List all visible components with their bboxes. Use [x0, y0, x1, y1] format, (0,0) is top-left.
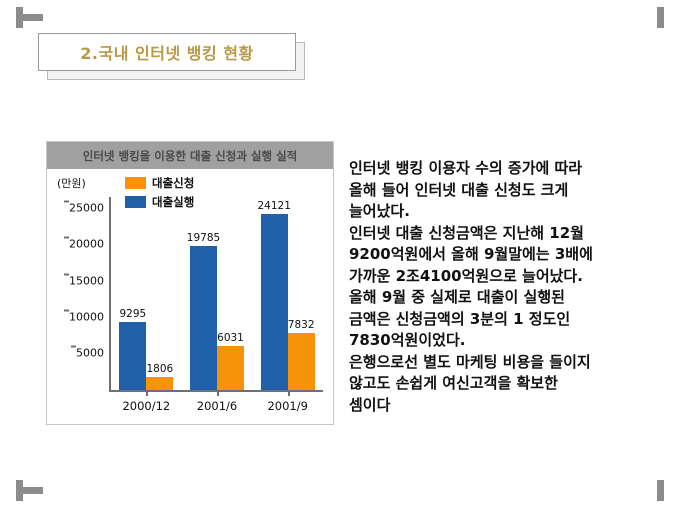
x-axis-label-2001-9: 2001/9	[267, 399, 307, 413]
bar-group-2001-6: 19785 6031 2001/6	[182, 197, 253, 390]
rule-bar	[16, 487, 43, 494]
body-line: 올해 9월 중 실제로 대출이 실행된	[349, 287, 659, 309]
bar-value-label: 7832	[288, 319, 315, 331]
plot-area: 5000 10000 15000 20000 25000 9295 1806 2…	[109, 197, 323, 392]
bar-group-2000-12: 9295 1806 2000/12	[111, 197, 182, 390]
body-line: 금액은 신청금액의 3분의 1 정도인	[349, 309, 659, 331]
chart-panel: 인터넷 뱅킹을 이용한 대출 신청과 실행 실적 (만원) 대출신청 대출실행 …	[46, 141, 334, 425]
bar-silhaeng-2001-6[interactable]: 19785	[190, 246, 217, 390]
legend-item-daechul-sincheong: 대출신청	[125, 174, 194, 191]
bar-value-label: 19785	[187, 232, 220, 244]
legend-swatch-orange	[125, 177, 146, 189]
rule-bar	[16, 14, 43, 21]
x-tick-mark	[146, 390, 148, 396]
y-tick-10000: 10000	[69, 311, 111, 324]
x-tick-mark	[217, 390, 219, 396]
bar-group-2001-9: 24121 7832 2001/9	[252, 197, 323, 390]
x-axis-label-2000-12: 2000/12	[122, 399, 170, 413]
bar-sincheong-2001-9[interactable]: 7832	[288, 333, 315, 390]
body-line: 늘어났다.	[349, 201, 659, 223]
y-tick-20000: 20000	[69, 238, 111, 251]
bar-silhaeng-2000-12[interactable]: 9295	[119, 322, 146, 390]
body-line: 않고도 손쉽게 여신고객을 확보한	[349, 373, 659, 395]
chart-title: 인터넷 뱅킹을 이용한 대출 신청과 실행 실적	[83, 148, 297, 164]
bottom-decorative-rule	[16, 480, 664, 502]
y-tick-5000: 5000	[76, 346, 111, 359]
x-axis-label-2001-6: 2001/6	[197, 399, 237, 413]
bar-sincheong-2001-6[interactable]: 6031	[217, 346, 244, 390]
bar-value-label: 24121	[257, 200, 290, 212]
body-line: 셈이다	[349, 395, 659, 417]
chart-header: 인터넷 뱅킹을 이용한 대출 신청과 실행 실적	[47, 142, 333, 169]
legend-label-orange: 대출신청	[152, 175, 194, 191]
body-text: 인터넷 뱅킹 이용자 수의 증가에 따라 올해 들어 인터넷 대출 신청도 크게…	[349, 158, 659, 416]
body-line: 9200억원에서 올해 9월말에는 3배에	[349, 244, 659, 266]
body-line: 은행으로선 별도 마케팅 비용을 들이지	[349, 352, 659, 374]
rule-right-cap	[657, 480, 664, 501]
y-tick-25000: 25000	[69, 201, 111, 214]
y-tick-15000: 15000	[69, 274, 111, 287]
body-line: 인터넷 뱅킹 이용자 수의 증가에 따라	[349, 158, 659, 180]
bar-value-label: 6031	[217, 332, 244, 344]
bar-groups: 9295 1806 2000/12 19785 6031	[111, 197, 323, 390]
body-line: 가까운 2조4100억원으로 늘어났다.	[349, 266, 659, 288]
rule-right-cap	[657, 7, 664, 28]
bar-value-label: 9295	[119, 308, 146, 320]
page-title: 2.국내 인터넷 뱅킹 현황	[80, 40, 253, 64]
body-line: 인터넷 대출 신청금액은 지난해 12월	[349, 223, 659, 245]
x-tick-mark	[288, 390, 290, 396]
section-title: 2.국내 인터넷 뱅킹 현황	[38, 33, 296, 71]
top-decorative-rule	[16, 7, 664, 29]
bar-silhaeng-2001-9[interactable]: 24121	[261, 214, 288, 390]
body-line: 7830억원이었다.	[349, 330, 659, 352]
bar-value-label: 1806	[146, 363, 173, 375]
bar-sincheong-2000-12[interactable]: 1806	[146, 377, 173, 390]
title-box: 2.국내 인터넷 뱅킹 현황	[38, 33, 296, 71]
body-line: 올해 들어 인터넷 대출 신청도 크게	[349, 180, 659, 202]
y-axis-unit-label: (만원)	[57, 175, 86, 191]
chart-body: (만원) 대출신청 대출실행 5000 10000 15000 20000 25…	[47, 169, 333, 424]
